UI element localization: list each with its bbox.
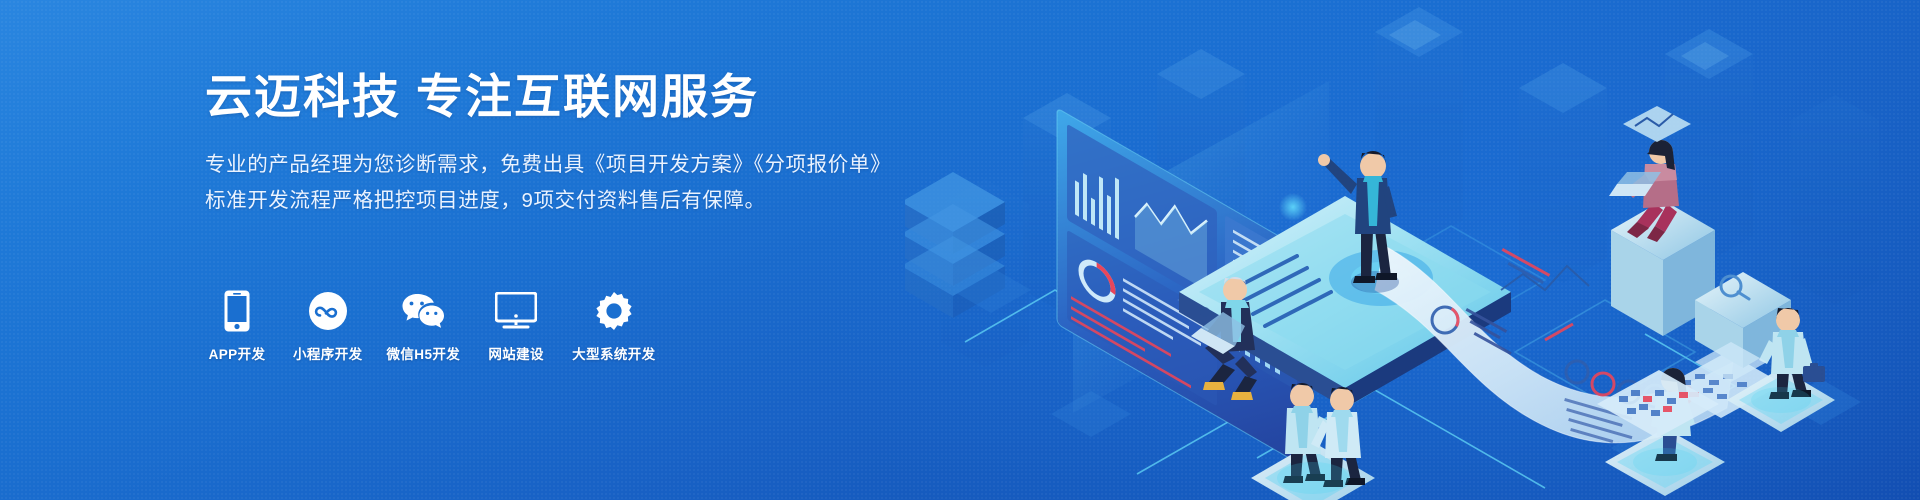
service-item-wechat-h5[interactable]: 微信H5开发 bbox=[387, 290, 461, 363]
subtitle-line-1: 专业的产品经理为您诊断需求，免费出具《项目开发方案》《分项报价单》 bbox=[205, 147, 1105, 183]
page-title: 云迈科技 专注互联网服务 bbox=[205, 66, 1105, 128]
service-label: 小程序开发 bbox=[293, 343, 363, 363]
hero-subtitle: 专业的产品经理为您诊断需求，免费出具《项目开发方案》《分项报价单》 标准开发流程… bbox=[205, 147, 1105, 219]
service-item-miniprogram[interactable]: 小程序开发 bbox=[293, 290, 363, 363]
service-list: APP开发 小程序开发 微信 bbox=[205, 290, 656, 363]
mobile-phone-icon bbox=[205, 290, 269, 332]
service-item-app[interactable]: APP开发 bbox=[205, 290, 269, 363]
subtitle-line-2: 标准开发流程严格把控项目进度，9项交付资料售后有保障。 bbox=[205, 183, 1105, 219]
service-item-website[interactable]: 网站建设 bbox=[484, 290, 548, 363]
wechat-icon bbox=[391, 290, 455, 332]
hero-copy: 云迈科技 专注互联网服务 专业的产品经理为您诊断需求，免费出具《项目开发方案》《… bbox=[205, 66, 1105, 219]
gear-icon bbox=[582, 290, 646, 332]
service-label: 微信H5开发 bbox=[387, 343, 461, 363]
mini-program-icon bbox=[296, 290, 360, 332]
service-label: 网站建设 bbox=[488, 343, 544, 363]
hero-banner: 云迈科技 专注互联网服务 专业的产品经理为您诊断需求，免费出具《项目开发方案》《… bbox=[0, 0, 1920, 500]
service-label: APP开发 bbox=[209, 343, 266, 363]
service-label: 大型系统开发 bbox=[572, 343, 655, 363]
monitor-icon bbox=[484, 290, 548, 332]
service-item-system[interactable]: 大型系统开发 bbox=[572, 290, 655, 363]
